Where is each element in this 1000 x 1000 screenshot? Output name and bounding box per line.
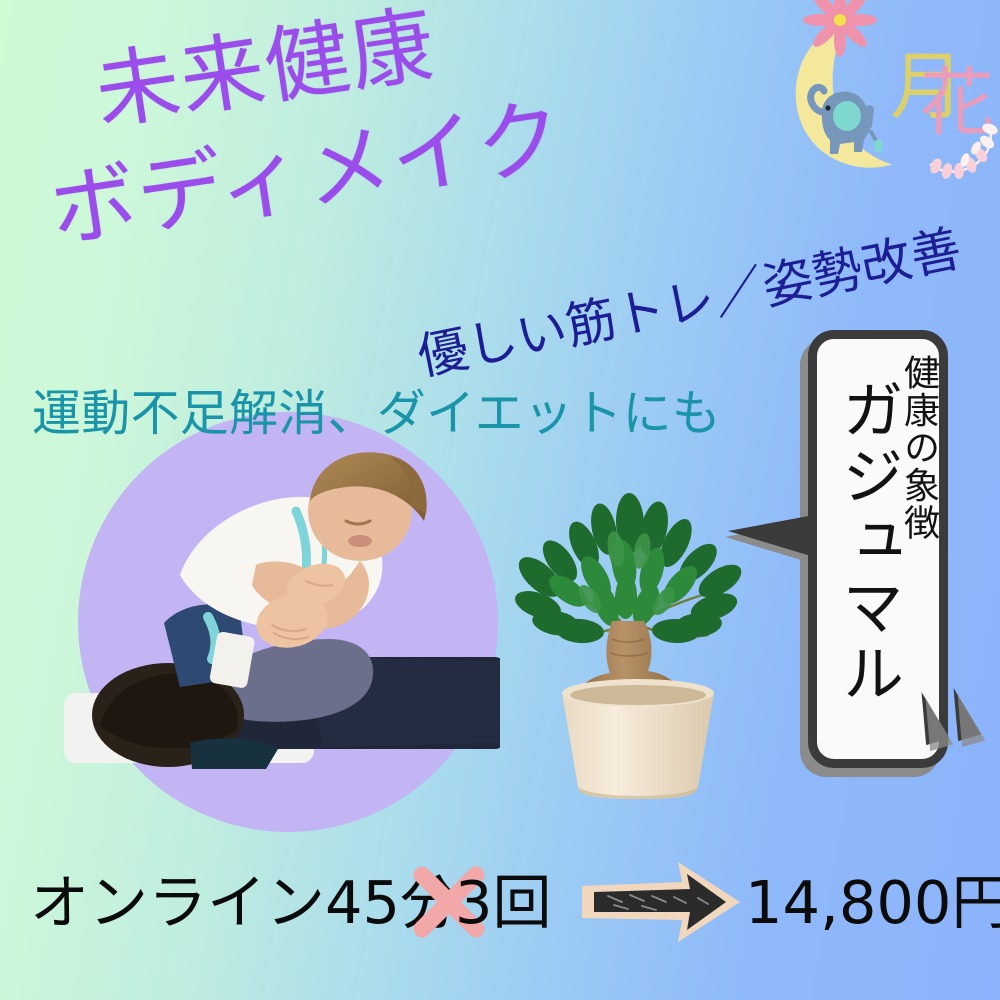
right-arrow-icon [578,860,744,945]
logo-kanji-flower: 花 [920,60,994,146]
price-row: オンライン45分 3回 [0,855,1000,950]
brand-logo: 月 花 [778,0,1000,190]
treatment-photo [60,425,500,780]
poster-canvas: 月 花 [0,0,1000,1000]
bubble-tail [728,515,814,557]
poster-headline: 未来健康 ボディメイク [90,0,734,257]
bubble-sub-text: 健康の象徴 [892,354,944,541]
speech-bubble: ガジュマル 健康の象徴 [808,330,948,768]
emphasis-marks-icon [912,688,1000,778]
price-service-label: オンライン45分 [30,855,459,950]
price-session-count: 3回 [455,855,552,950]
gajumaru-plant [500,425,775,805]
price-amount: 14,800円 [745,855,1000,950]
